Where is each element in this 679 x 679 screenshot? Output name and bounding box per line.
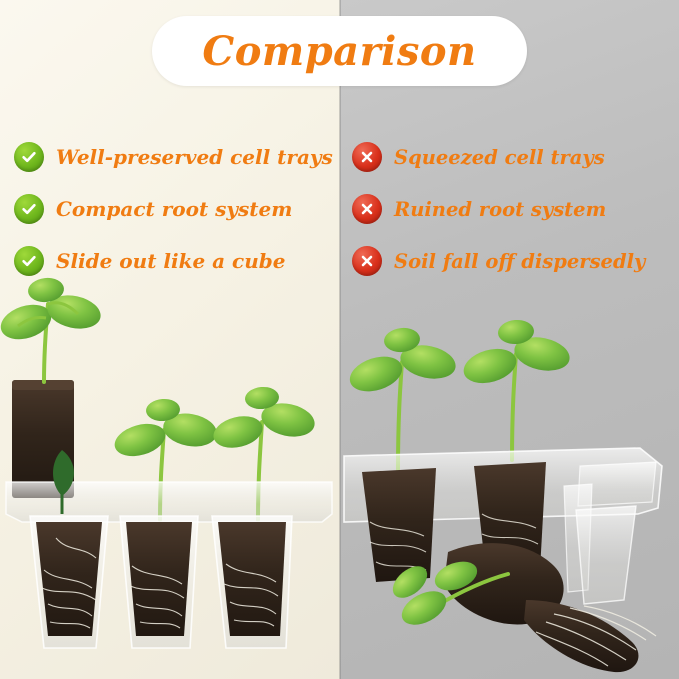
list-item: Ruined root system — [352, 183, 678, 235]
page-title: Comparison — [202, 28, 476, 75]
list-item-label: Well-preserved cell trays — [56, 145, 333, 169]
comparison-graphic: Comparison Well-preserved cell trays Com… — [0, 0, 679, 679]
right-feature-list: Squeezed cell trays Ruined root system S… — [352, 131, 678, 287]
check-circle-icon — [14, 142, 44, 172]
list-item: Well-preserved cell trays — [14, 131, 344, 183]
left-feature-list: Well-preserved cell trays Compact root s… — [14, 131, 344, 287]
cross-circle-icon — [352, 142, 382, 172]
check-circle-icon — [14, 194, 44, 224]
right-photo-illustration — [340, 270, 679, 679]
list-item: Squeezed cell trays — [352, 131, 678, 183]
list-item: Compact root system — [14, 183, 344, 235]
title-pill: Comparison — [152, 16, 527, 86]
cross-circle-icon — [352, 194, 382, 224]
list-item-label: Compact root system — [56, 197, 292, 221]
left-photo-illustration — [0, 270, 340, 679]
list-item-label: Squeezed cell trays — [394, 146, 605, 169]
list-item-label: Ruined root system — [394, 198, 606, 221]
product-photo — [0, 270, 679, 679]
